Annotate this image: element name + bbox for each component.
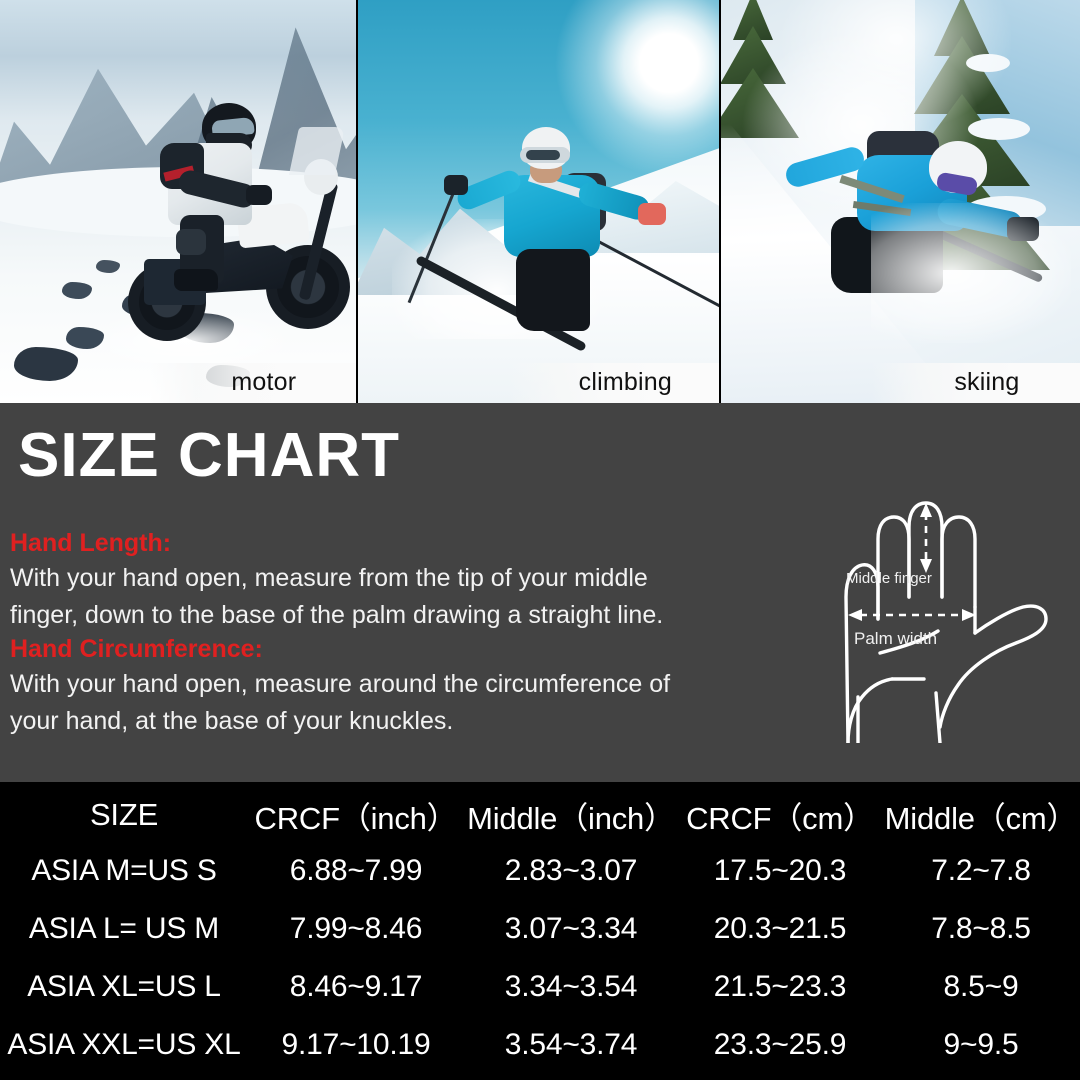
hand-length-line-1: With your hand open, measure from the ti… — [10, 560, 750, 597]
glove-right — [638, 203, 666, 225]
hand-outline-icon — [818, 447, 1054, 743]
cell-crcf-inch: 8.46~9.17 — [248, 970, 464, 1004]
page-title: SIZE CHART — [18, 425, 400, 487]
glove — [246, 185, 272, 205]
size-chart-info-panel: SIZE CHART Hand Length: With your hand o… — [0, 403, 1080, 782]
cell-middle-inch: 3.34~3.54 — [464, 970, 678, 1004]
cell-size: ASIA M=US S — [0, 854, 248, 888]
cell-crcf-cm: 21.5~23.3 — [678, 970, 882, 1004]
cell-size: ASIA XXL=US XL — [0, 1028, 248, 1062]
photo-caption-skiing: skiing — [872, 363, 1080, 403]
photo-strip: motor — [0, 0, 1080, 403]
cell-size: ASIA L= US M — [0, 912, 248, 946]
photo-skiing: skiing — [721, 0, 1080, 403]
cell-size: ASIA XL=US L — [0, 970, 248, 1004]
cell-middle-cm: 7.8~8.5 — [882, 912, 1080, 946]
ski-pants — [516, 249, 590, 331]
goggles — [520, 147, 570, 163]
hand-length-line-2: finger, down to the base of the palm dra… — [10, 597, 750, 634]
photo-caption-climbing: climbing — [510, 363, 719, 403]
knee-pad — [176, 229, 206, 255]
photo-caption-motor: motor — [150, 363, 356, 403]
cell-middle-cm: 9~9.5 — [882, 1028, 1080, 1062]
column-header-size: SIZE — [0, 797, 248, 833]
column-header-middle-cm: Middle（cm） — [882, 793, 1080, 838]
cell-middle-cm: 8.5~9 — [882, 970, 1080, 1004]
cell-crcf-cm: 20.3~21.5 — [678, 912, 882, 946]
table-row: ASIA M=US S 6.88~7.99 2.83~3.07 17.5~20.… — [0, 842, 1080, 900]
photo-climbing: climbing — [358, 0, 719, 403]
boot — [174, 269, 218, 291]
cell-crcf-cm: 17.5~20.3 — [678, 854, 882, 888]
size-table: SIZE CRCF（inch） Middle（inch） CRCF（cm） Mi… — [0, 782, 1080, 1080]
photo-motor: motor — [0, 0, 356, 403]
middle-finger-label: Middle finger — [846, 570, 932, 587]
hand-measurement-diagram: Middle finger Palm width — [818, 447, 1054, 743]
glove-left — [444, 175, 468, 195]
hand-circumference-line-2: your hand, at the base of your knuckles. — [10, 703, 750, 740]
windshield — [289, 127, 345, 175]
cell-middle-inch: 3.54~3.74 — [464, 1028, 678, 1062]
cell-crcf-cm: 23.3~25.9 — [678, 1028, 882, 1062]
cell-crcf-inch: 6.88~7.99 — [248, 854, 464, 888]
skier — [478, 123, 658, 333]
column-header-crcf-cm: CRCF（cm） — [678, 793, 882, 838]
cell-middle-inch: 3.07~3.34 — [464, 912, 678, 946]
measuring-instructions: Hand Length: With your hand open, measur… — [10, 527, 750, 739]
motorcycle-rider — [150, 103, 280, 283]
hand-circumference-line-1: With your hand open, measure around the … — [10, 666, 750, 703]
cell-crcf-inch: 9.17~10.19 — [248, 1028, 464, 1062]
cell-crcf-inch: 7.99~8.46 — [248, 912, 464, 946]
snow-spray — [871, 203, 1071, 343]
palm-width-label: Palm width — [854, 629, 937, 649]
cell-middle-inch: 2.83~3.07 — [464, 854, 678, 888]
table-row: ASIA XL=US L 8.46~9.17 3.34~3.54 21.5~23… — [0, 958, 1080, 1016]
table-header-row: SIZE CRCF（inch） Middle（inch） CRCF（cm） Mi… — [0, 788, 1080, 842]
cell-middle-cm: 7.2~7.8 — [882, 854, 1080, 888]
column-header-middle-inch: Middle（inch） — [464, 793, 678, 838]
table-row: ASIA L= US M 7.99~8.46 3.07~3.34 20.3~21… — [0, 900, 1080, 958]
hand-length-heading: Hand Length: — [10, 527, 750, 560]
table-row: ASIA XXL=US XL 9.17~10.19 3.54~3.74 23.3… — [0, 1016, 1080, 1074]
hand-circumference-heading: Hand Circumference: — [10, 633, 750, 666]
size-chart-page: motor — [0, 0, 1080, 1080]
column-header-crcf-inch: CRCF（inch） — [248, 793, 464, 838]
